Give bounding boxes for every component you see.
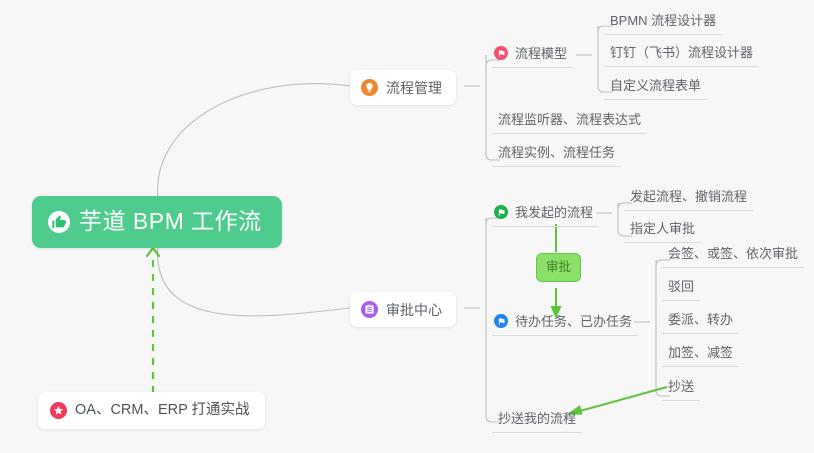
aside-node-integration[interactable]: OA、CRM、ERP 打通实战 bbox=[38, 392, 265, 429]
aside-label-integration: OA、CRM、ERP 打通实战 bbox=[75, 403, 250, 418]
flow-badge-label: 审批 bbox=[546, 260, 571, 274]
leaf-label-todo-done-tasks: 待办任务、已办任务 bbox=[515, 315, 632, 328]
cc-arrow-line bbox=[580, 387, 667, 411]
flag-icon bbox=[494, 205, 508, 219]
aside-arrow-head-up bbox=[147, 248, 159, 256]
leaf-countersign-orsign-sequential[interactable]: 会签、或签、依次审批 bbox=[662, 247, 804, 268]
flow-badge-approval: 审批 bbox=[536, 253, 581, 282]
leaf-designated-approver[interactable]: 指定人审批 bbox=[624, 222, 701, 243]
edge-root-to-process-management bbox=[158, 84, 350, 200]
leaf-label-delegate-transfer: 委派、转办 bbox=[668, 312, 733, 327]
lightbulb-icon bbox=[361, 79, 378, 96]
branch-node-approval-center[interactable]: 审批中心 bbox=[350, 292, 456, 327]
leaf-reject[interactable]: 驳回 bbox=[662, 280, 700, 301]
branch-node-process-management[interactable]: 流程管理 bbox=[350, 70, 456, 105]
root-node[interactable]: 芋道 BPM 工作流 bbox=[32, 196, 282, 248]
leaf-label-carbon-copy: 抄送 bbox=[668, 379, 694, 394]
leaf-label-process-instance-task: 流程实例、流程任务 bbox=[498, 145, 615, 160]
leaf-bpmn-designer[interactable]: BPMN 流程设计器 bbox=[604, 14, 722, 35]
leaf-custom-process-form[interactable]: 自定义流程表单 bbox=[604, 79, 707, 100]
leaf-label-custom-process-form: 自定义流程表单 bbox=[610, 78, 701, 93]
flag-icon bbox=[494, 314, 508, 328]
root-label: 芋道 BPM 工作流 bbox=[79, 210, 262, 233]
flag-icon bbox=[494, 46, 508, 60]
leaf-dingtalk-feishu-designer[interactable]: 钉钉（飞书）流程设计器 bbox=[604, 46, 759, 67]
leaf-cc-to-me-process[interactable]: 抄送我的流程 bbox=[492, 412, 582, 433]
leaf-delegate-transfer[interactable]: 委派、转办 bbox=[662, 313, 739, 334]
clipboard-icon bbox=[361, 301, 378, 318]
leaf-label-reject: 驳回 bbox=[668, 279, 694, 294]
leaf-label-process-listener-expression: 流程监听器、流程表达式 bbox=[498, 112, 641, 127]
leaf-label-my-initiated-process: 我发起的流程 bbox=[515, 206, 593, 219]
branch-label-process-management: 流程管理 bbox=[386, 81, 442, 95]
leaf-label-start-cancel-process: 发起流程、撤销流程 bbox=[630, 189, 747, 204]
leaf-my-initiated-process[interactable]: 我发起的流程 bbox=[492, 205, 599, 227]
leaf-label-bpmn-designer: BPMN 流程设计器 bbox=[610, 13, 716, 28]
leaf-label-process-model: 流程模型 bbox=[515, 47, 567, 60]
leaf-process-instance-task[interactable]: 流程实例、流程任务 bbox=[492, 146, 621, 167]
leaf-add-remove-sign[interactable]: 加签、减签 bbox=[662, 346, 739, 367]
leaf-process-model[interactable]: 流程模型 bbox=[492, 46, 573, 68]
thumbs-up-icon bbox=[48, 211, 70, 233]
leaf-label-countersign-orsign-sequential: 会签、或签、依次审批 bbox=[668, 246, 798, 261]
leaf-carbon-copy[interactable]: 抄送 bbox=[662, 380, 700, 401]
leaf-label-cc-to-me-process: 抄送我的流程 bbox=[498, 411, 576, 426]
star-icon bbox=[50, 402, 67, 419]
mindmap-canvas: 芋道 BPM 工作流 流程管理 流程模型 BPMN 流程设计器 钉钉（飞书）流程… bbox=[0, 0, 814, 453]
leaf-todo-done-tasks[interactable]: 待办任务、已办任务 bbox=[492, 314, 638, 336]
branch-label-approval-center: 审批中心 bbox=[386, 303, 442, 317]
leaf-label-designated-approver: 指定人审批 bbox=[630, 221, 695, 236]
leaf-process-listener-expression[interactable]: 流程监听器、流程表达式 bbox=[492, 113, 647, 134]
edge-root-to-approval-center bbox=[158, 243, 350, 316]
leaf-start-cancel-process[interactable]: 发起流程、撤销流程 bbox=[624, 190, 753, 211]
leaf-label-dingtalk-feishu-designer: 钉钉（飞书）流程设计器 bbox=[610, 45, 753, 60]
leaf-label-add-remove-sign: 加签、减签 bbox=[668, 345, 733, 360]
